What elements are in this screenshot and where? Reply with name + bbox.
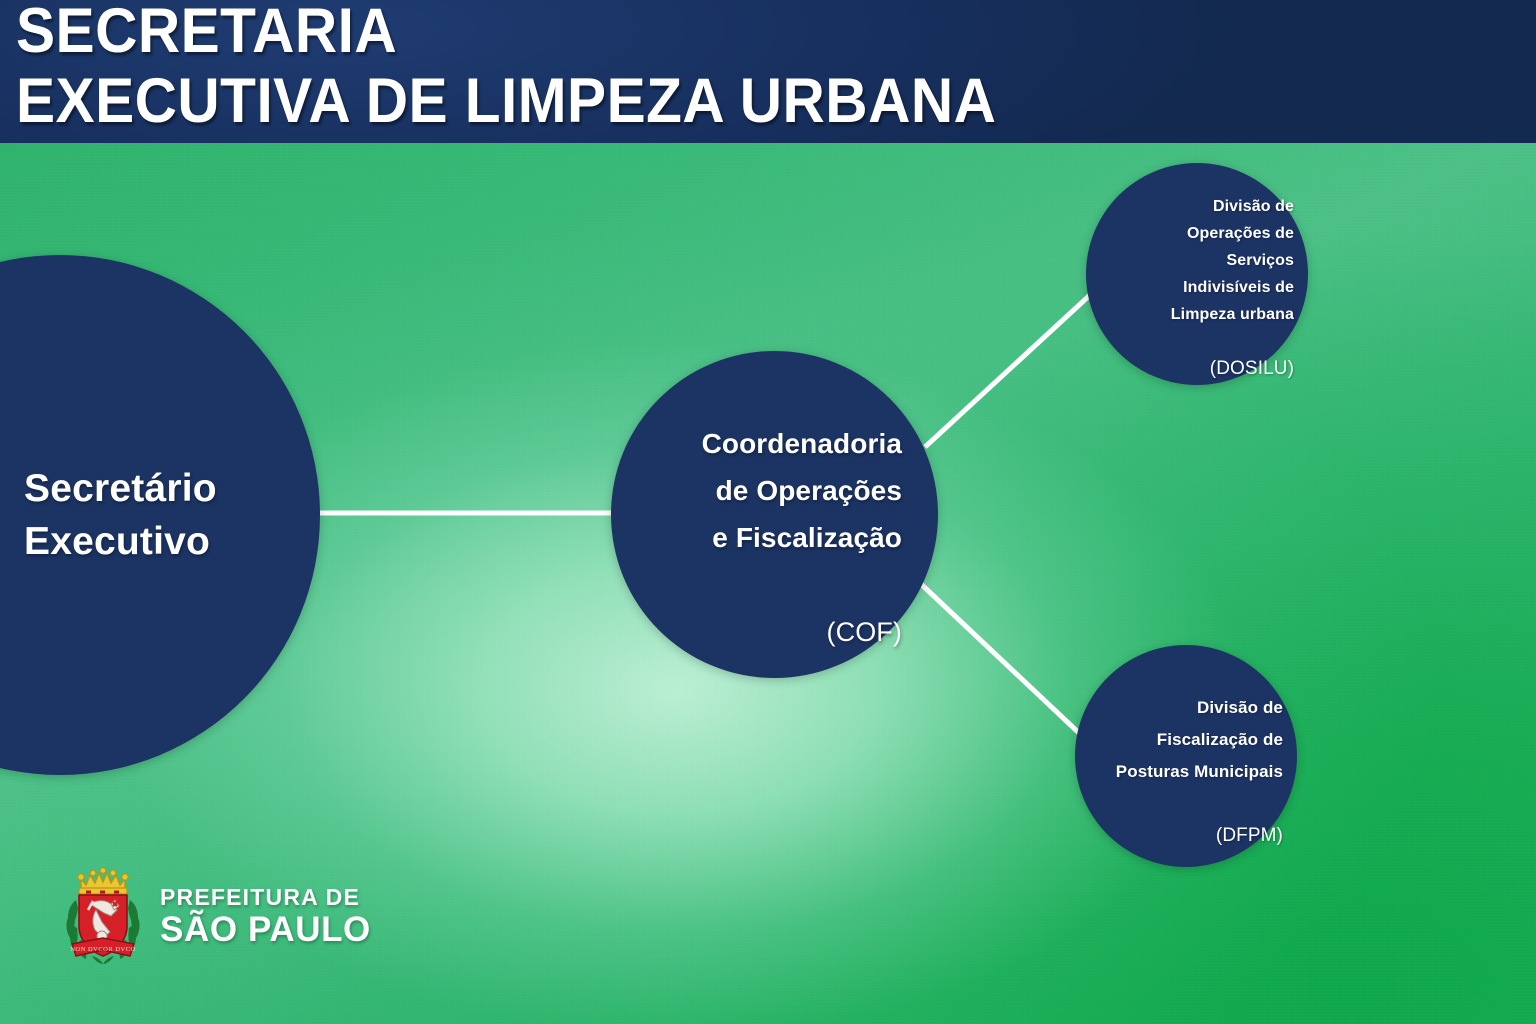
sao-paulo-coat-of-arms-icon: NON DVCOR DVCO: [62, 866, 144, 966]
svg-text:NON DVCOR DVCO: NON DVCOR DVCO: [70, 946, 136, 953]
logo-line-prefeitura: PREFEITURA DE: [160, 886, 371, 909]
node-cof-acronym: (COF): [827, 617, 902, 647]
node-dfpm-text: Divisão de Fiscalização de Posturas Muni…: [1075, 660, 1297, 852]
node-dosilu-text: Divisão de Operações de Serviços Indivis…: [1086, 166, 1308, 383]
prefeitura-logo: NON DVCOR DVCO PREFEITURA DE SÃO PAULO: [62, 866, 371, 966]
node-cof-label: Coordenadoria de Operações e Fiscalizaçã…: [702, 428, 902, 553]
node-dfpm-label: Divisão de Fiscalização de Posturas Muni…: [1116, 698, 1283, 781]
node-dosilu-acronym: (DOSILU): [1210, 358, 1294, 379]
node-dosilu[interactable]: Divisão de Operações de Serviços Indivis…: [1086, 163, 1308, 385]
page-title: SECRETARIA EXECUTIVA DE LIMPEZA URBANA: [16, 0, 996, 136]
node-secretario-executivo-label: Secretário Executivo: [0, 462, 320, 568]
node-cof-text: Coordenadoria de Operações e Fiscalizaçã…: [611, 373, 938, 656]
node-dfpm[interactable]: Divisão de Fiscalização de Posturas Muni…: [1075, 645, 1297, 867]
organizational-chart-page: SECRETARIA EXECUTIVA DE LIMPEZA URBANA S…: [0, 0, 1536, 1024]
node-dosilu-label: Divisão de Operações de Serviços Indivis…: [1171, 198, 1294, 323]
logo-line-sao-paulo: SÃO PAULO: [160, 912, 371, 947]
page-header: SECRETARIA EXECUTIVA DE LIMPEZA URBANA: [0, 0, 1536, 143]
logo-wordmark: PREFEITURA DE SÃO PAULO: [160, 886, 371, 947]
node-cof[interactable]: Coordenadoria de Operações e Fiscalizaçã…: [611, 351, 938, 678]
node-dfpm-acronym: (DFPM): [1216, 825, 1283, 846]
